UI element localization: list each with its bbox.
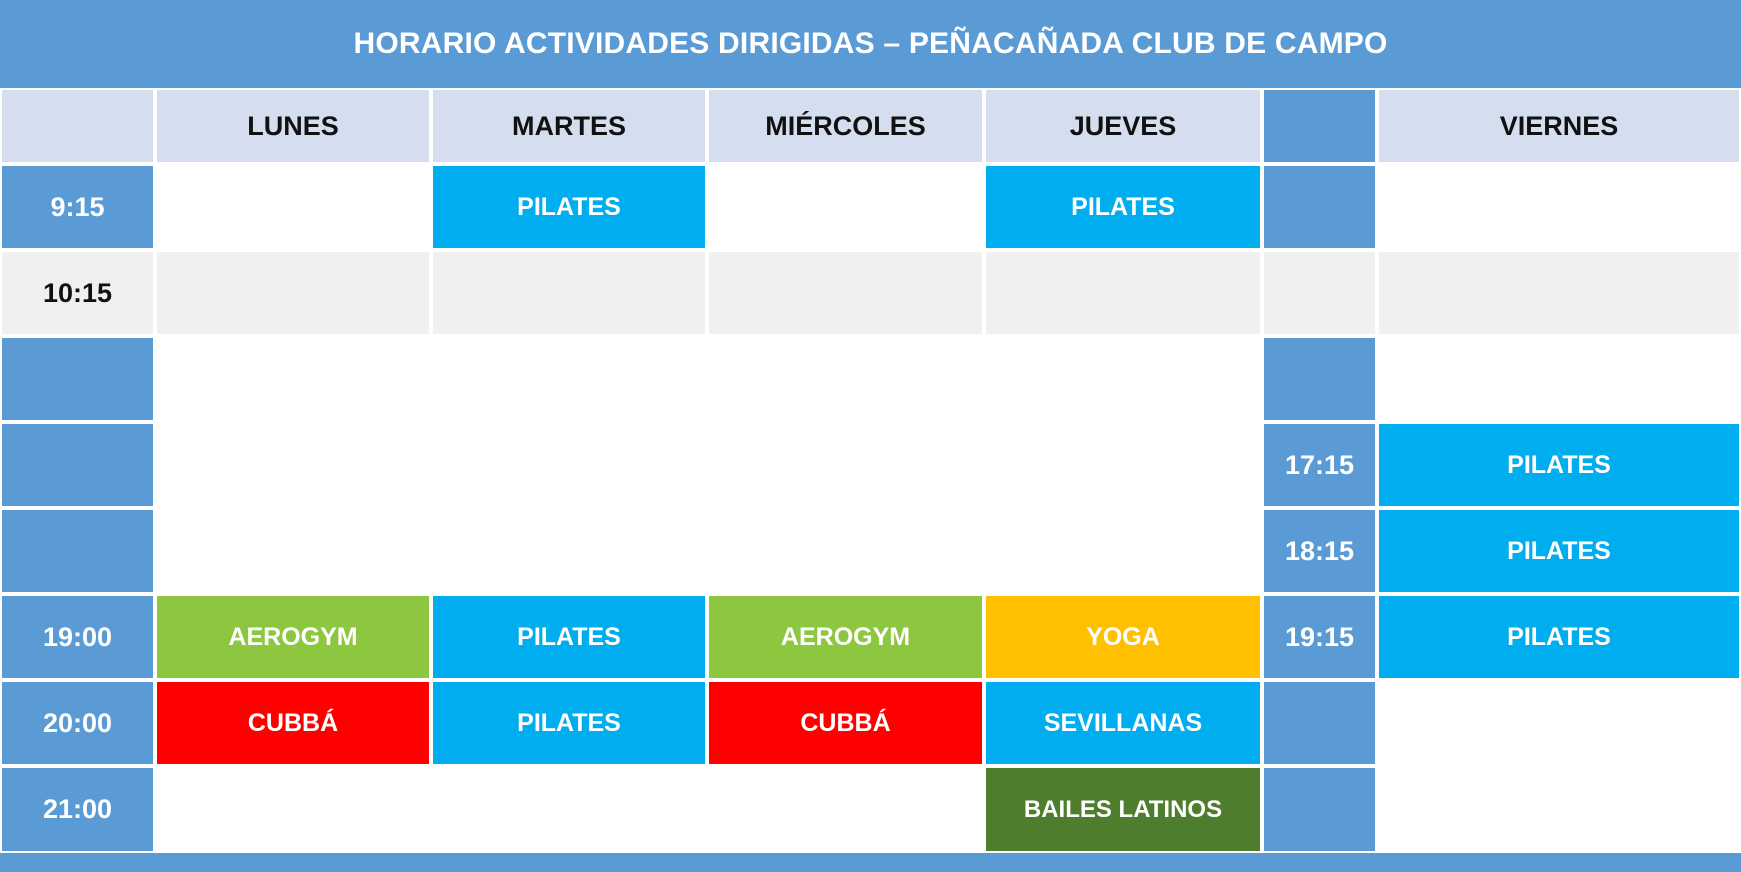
- time-right-empty-row-7: [1262, 680, 1377, 766]
- title-bar: HORARIO ACTIVIDADES DIRIGIDAS – PEÑACAÑA…: [0, 0, 1741, 88]
- empty-cell-martes-row-5: [431, 508, 707, 594]
- empty-cell-viernes-row-7: [1377, 680, 1741, 766]
- empty-cell-viernes-row-2: [1377, 250, 1741, 336]
- header-day-martes: MARTES: [431, 88, 707, 164]
- empty-cell-mircoles-row-4: [707, 422, 984, 508]
- activity-mircoles-row-6[interactable]: AEROGYM: [707, 594, 984, 680]
- empty-cell-lunes-row-2: [155, 250, 431, 336]
- bottom-frame-band: [0, 853, 1741, 872]
- activity-jueves-row-6[interactable]: YOGA: [984, 594, 1262, 680]
- time-label-19-00: 19:00: [0, 594, 155, 680]
- activity-martes-row-6[interactable]: PILATES: [431, 594, 707, 680]
- activity-viernes-row-5[interactable]: PILATES: [1377, 508, 1741, 594]
- empty-cell-mircoles-row-8: [707, 766, 984, 853]
- empty-cell-viernes-row-1: [1377, 164, 1741, 250]
- empty-cell-lunes-row-5: [155, 508, 431, 594]
- activity-lunes-row-7[interactable]: CUBBÁ: [155, 680, 431, 766]
- time-label-18-15: 18:15: [1262, 508, 1377, 594]
- activity-jueves-row-1[interactable]: PILATES: [984, 164, 1262, 250]
- time-label-20-00: 20:00: [0, 680, 155, 766]
- time-label-empty-row-4: [0, 422, 155, 508]
- time-right-empty-row-1: [1262, 164, 1377, 250]
- empty-cell-jueves-row-5: [984, 508, 1262, 594]
- header-day-jueves: JUEVES: [984, 88, 1262, 164]
- time-label-9-15: 9:15: [0, 164, 155, 250]
- time-right-empty-row-8: [1262, 766, 1377, 853]
- time-label-21-00: 21:00: [0, 766, 155, 853]
- header-day-viernes: VIERNES: [1377, 88, 1741, 164]
- empty-cell-viernes-row-3: [1377, 336, 1741, 422]
- activity-jueves-row-8[interactable]: BAILES LATINOS: [984, 766, 1262, 853]
- empty-cell-jueves-row-3: [984, 336, 1262, 422]
- empty-cell-lunes-row-8: [155, 766, 431, 853]
- time-right-empty-row-3: [1262, 336, 1377, 422]
- header-day-lunes: LUNES: [155, 88, 431, 164]
- empty-cell-lunes-row-1: [155, 164, 431, 250]
- time-label-empty-row-5: [0, 508, 155, 594]
- activity-martes-row-1[interactable]: PILATES: [431, 164, 707, 250]
- header-time-column-left: [0, 88, 155, 164]
- schedule-poster: HORARIO ACTIVIDADES DIRIGIDAS – PEÑACAÑA…: [0, 0, 1741, 872]
- empty-cell-martes-row-2: [431, 250, 707, 336]
- activity-lunes-row-6[interactable]: AEROGYM: [155, 594, 431, 680]
- time-label-10-15: 10:15: [0, 250, 155, 336]
- time-label-17-15: 17:15: [1262, 422, 1377, 508]
- time-right-empty-row-2: [1262, 250, 1377, 336]
- header-time-column-right: [1262, 88, 1377, 164]
- time-label-19-15: 19:15: [1262, 594, 1377, 680]
- empty-cell-martes-row-8: [431, 766, 707, 853]
- page-title: HORARIO ACTIVIDADES DIRIGIDAS – PEÑACAÑA…: [353, 27, 1387, 61]
- activity-jueves-row-7[interactable]: SEVILLANAS: [984, 680, 1262, 766]
- empty-cell-jueves-row-2: [984, 250, 1262, 336]
- schedule-grid: LUNESMARTESMIÉRCOLESJUEVESVIERNES9:15PIL…: [0, 88, 1741, 853]
- empty-cell-martes-row-3: [431, 336, 707, 422]
- empty-cell-lunes-row-3: [155, 336, 431, 422]
- empty-cell-mircoles-row-2: [707, 250, 984, 336]
- activity-martes-row-7[interactable]: PILATES: [431, 680, 707, 766]
- empty-cell-mircoles-row-3: [707, 336, 984, 422]
- empty-cell-martes-row-4: [431, 422, 707, 508]
- empty-cell-jueves-row-4: [984, 422, 1262, 508]
- activity-viernes-row-6[interactable]: PILATES: [1377, 594, 1741, 680]
- empty-cell-mircoles-row-5: [707, 508, 984, 594]
- empty-cell-viernes-row-8: [1377, 766, 1741, 853]
- empty-cell-lunes-row-4: [155, 422, 431, 508]
- header-day-mircoles: MIÉRCOLES: [707, 88, 984, 164]
- empty-cell-mircoles-row-1: [707, 164, 984, 250]
- time-label-empty-row-3: [0, 336, 155, 422]
- activity-mircoles-row-7[interactable]: CUBBÁ: [707, 680, 984, 766]
- activity-viernes-row-4[interactable]: PILATES: [1377, 422, 1741, 508]
